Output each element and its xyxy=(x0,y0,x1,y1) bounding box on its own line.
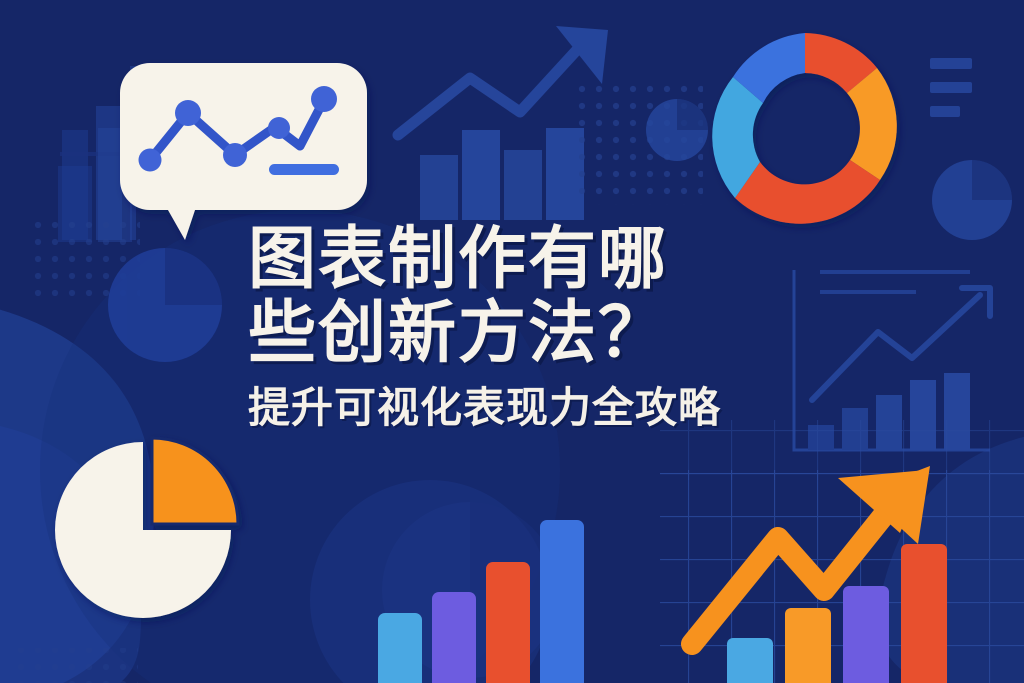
poster-canvas: 图表制作有哪 些创新方法？ 提升可视化表现力全攻略 xyxy=(0,0,1024,683)
trend-bar xyxy=(269,164,339,175)
donut-segment-3[interactable] xyxy=(735,160,880,224)
bar-right-1[interactable] xyxy=(727,638,773,683)
page-title-line-2: 些创新方法？ xyxy=(248,296,788,370)
pie-slice-highlight[interactable] xyxy=(152,438,238,524)
page-subtitle: 提升可视化表现力全攻略 xyxy=(248,384,788,432)
data-point-2[interactable] xyxy=(175,100,201,126)
bar-chart-center[interactable] xyxy=(378,520,584,683)
speech-bubble-callout[interactable] xyxy=(120,63,367,240)
data-point-4[interactable] xyxy=(268,117,290,139)
bar-right-3[interactable] xyxy=(843,586,889,683)
bar-center-2[interactable] xyxy=(432,592,476,683)
bar-right-4[interactable] xyxy=(901,544,947,683)
page-title-line-1: 图表制作有哪 xyxy=(248,222,788,296)
bar-center-3[interactable] xyxy=(486,562,530,683)
bar-right-2[interactable] xyxy=(785,608,831,683)
data-point-3[interactable] xyxy=(223,143,247,167)
data-point-1[interactable] xyxy=(139,149,162,172)
donut-chart[interactable] xyxy=(712,33,897,224)
bar-center-1[interactable] xyxy=(378,613,422,683)
data-point-5[interactable] xyxy=(311,86,337,112)
bar-center-4[interactable] xyxy=(540,520,584,683)
title-block: 图表制作有哪 些创新方法？ 提升可视化表现力全攻略 xyxy=(248,222,788,432)
pie-chart-left[interactable] xyxy=(55,438,238,618)
